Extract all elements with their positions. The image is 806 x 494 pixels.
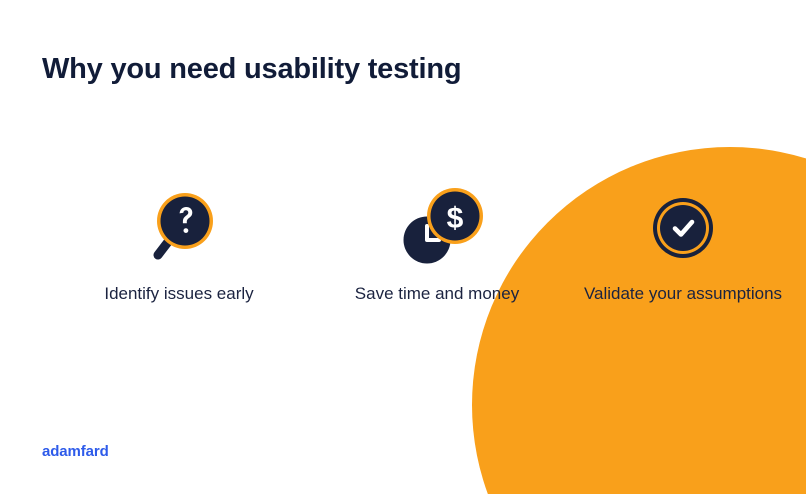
clock-dollar-coin-icon: $	[314, 178, 560, 272]
feature-item-save-time-money: $ Save time and money	[314, 178, 560, 318]
feature-label: Save time and money	[314, 283, 560, 305]
check-circle-icon	[560, 178, 806, 272]
feature-item-validate-assumptions: Validate your assumptions	[560, 178, 806, 318]
feature-item-identify-issues: Identify issues early	[56, 178, 302, 318]
adamfard-logo: adamfard	[42, 443, 109, 461]
feature-row: Identify issues early $ Save time and	[0, 178, 806, 318]
page-title: Why you need usability testing	[42, 49, 461, 89]
feature-label: Validate your assumptions	[560, 283, 806, 305]
svg-text:$: $	[447, 202, 464, 235]
magnifier-question-icon	[56, 178, 302, 272]
slide-canvas: Why you need usability testing Identify …	[0, 0, 806, 494]
feature-label: Identify issues early	[56, 283, 302, 305]
